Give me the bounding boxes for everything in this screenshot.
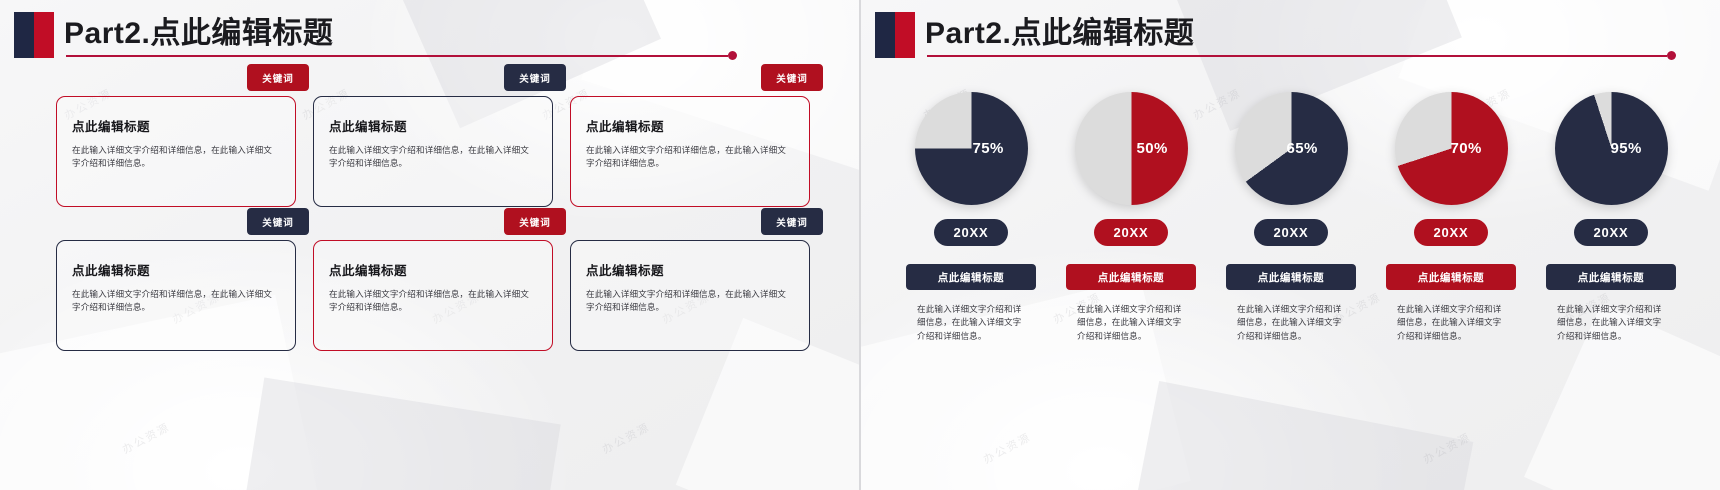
item-title-banner[interactable]: 点此编辑标题 [906,264,1036,290]
pie-chart[interactable]: 70% [1395,92,1508,205]
keyword-card[interactable]: 关键词 点此编辑标题 在此输入详细文字介绍和详细信息，在此输入详细文字介绍和详细… [56,96,296,207]
year-badge[interactable]: 20XX [1254,219,1328,246]
keyword-badge-label: 关键词 [776,71,808,85]
item-description: 在此输入详细文字介绍和详细信息，在此输入详细文字介绍和详细信息。 [917,303,1025,343]
pie-item: 70% 20XX 点此编辑标题 在此输入详细文字介绍和详细信息，在此输入详细文字… [1371,92,1531,343]
slide-pair: 办公资源 办公资源 办公资源 办公资源 办公资源 办公资源 办公资源 办公资源 … [0,0,1720,490]
pie-percent-label: 50% [1137,140,1168,157]
pie-percent-label: 75% [973,140,1004,157]
pie-slice [1075,92,1188,205]
item-description: 在此输入详细文字介绍和详细信息，在此输入详细文字介绍和详细信息。 [1557,303,1665,343]
keyword-card[interactable]: 关键词 点此编辑标题 在此输入详细文字介绍和详细信息，在此输入详细文字介绍和详细… [313,240,553,351]
year-label: 20XX [953,225,988,240]
watermark: 办公资源 [1420,429,1473,468]
header-accent-red [895,12,915,58]
year-badge[interactable]: 20XX [1414,219,1488,246]
pie-chart[interactable]: 65% [1235,92,1348,205]
year-label: 20XX [1593,225,1628,240]
pie-item: 50% 20XX 点此编辑标题 在此输入详细文字介绍和详细信息，在此输入详细文字… [1051,92,1211,343]
pie-slice [915,92,1028,205]
keyword-badge-label: 关键词 [519,71,551,85]
item-description: 在此输入详细文字介绍和详细信息，在此输入详细文字介绍和详细信息。 [1077,303,1185,343]
keyword-card[interactable]: 关键词 点此编辑标题 在此输入详细文字介绍和详细信息，在此输入详细文字介绍和详细… [56,240,296,351]
watermark: 办公资源 [599,419,652,458]
year-badge[interactable]: 20XX [934,219,1008,246]
page-title: Part2.点此编辑标题 [925,14,1194,54]
pie-chart[interactable]: 75% [915,92,1028,205]
keyword-badge[interactable]: 关键词 [504,208,566,235]
item-title-banner[interactable]: 点此编辑标题 [1386,264,1516,290]
year-badge[interactable]: 20XX [1094,219,1168,246]
keyword-badge-label: 关键词 [262,71,294,85]
pie-percent-label: 70% [1451,140,1482,157]
year-badge[interactable]: 20XX [1574,219,1648,246]
card-title: 点此编辑标题 [329,116,537,135]
keyword-badge[interactable]: 关键词 [761,208,823,235]
card-title: 点此编辑标题 [72,116,280,135]
pie-chart[interactable]: 50% [1075,92,1188,205]
item-title: 点此编辑标题 [1418,270,1485,285]
item-title-banner[interactable]: 点此编辑标题 [1066,264,1196,290]
item-title: 点此编辑标题 [1098,270,1165,285]
header-accent-navy [875,12,895,58]
item-description: 在此输入详细文字介绍和详细信息，在此输入详细文字介绍和详细信息。 [1237,303,1345,343]
item-title: 点此编辑标题 [938,270,1005,285]
header-rule [66,55,728,57]
header-rule-dot [728,51,737,60]
item-description: 在此输入详细文字介绍和详细信息，在此输入详细文字介绍和详细信息。 [1397,303,1505,343]
slide-header: Part2.点此编辑标题 [861,0,1720,70]
card-title: 点此编辑标题 [586,260,794,279]
keyword-badge[interactable]: 关键词 [761,64,823,91]
keyword-card[interactable]: 关键词 点此编辑标题 在此输入详细文字介绍和详细信息，在此输入详细文字介绍和详细… [570,96,810,207]
card-text: 在此输入详细文字介绍和详细信息，在此输入详细文字介绍和详细信息。 [329,144,537,170]
item-title-banner[interactable]: 点此编辑标题 [1546,264,1676,290]
pie-percent-label: 95% [1611,140,1642,157]
keyword-badge[interactable]: 关键词 [504,64,566,91]
card-text: 在此输入详细文字介绍和详细信息，在此输入详细文字介绍和详细信息。 [329,288,537,314]
watermark: 办公资源 [119,419,172,458]
slide-right: 办公资源 办公资源 办公资源 办公资源 办公资源 办公资源 办公资源 办公资源 … [859,0,1720,490]
card-title: 点此编辑标题 [329,260,537,279]
keyword-badge-label: 关键词 [776,215,808,229]
keyword-card[interactable]: 关键词 点此编辑标题 在此输入详细文字介绍和详细信息，在此输入详细文字介绍和详细… [570,240,810,351]
header-rule [927,55,1667,57]
card-text: 在此输入详细文字介绍和详细信息，在此输入详细文字介绍和详细信息。 [72,144,280,170]
header-accent-navy [14,12,34,58]
keyword-card[interactable]: 关键词 点此编辑标题 在此输入详细文字介绍和详细信息，在此输入详细文字介绍和详细… [313,96,553,207]
pie-chart-row: 75% 20XX 点此编辑标题 在此输入详细文字介绍和详细信息，在此输入详细文字… [891,92,1691,343]
year-label: 20XX [1273,225,1308,240]
card-row: 关键词 点此编辑标题 在此输入详细文字介绍和详细信息，在此输入详细文字介绍和详细… [56,96,812,207]
page-title: Part2.点此编辑标题 [64,14,333,54]
card-row: 关键词 点此编辑标题 在此输入详细文字介绍和详细信息，在此输入详细文字介绍和详细… [56,240,812,351]
pie-chart[interactable]: 95% [1555,92,1668,205]
keyword-card-grid: 关键词 点此编辑标题 在此输入详细文字介绍和详细信息，在此输入详细文字介绍和详细… [56,96,812,351]
slide-left: 办公资源 办公资源 办公资源 办公资源 办公资源 办公资源 办公资源 办公资源 … [0,0,859,490]
item-title-banner[interactable]: 点此编辑标题 [1226,264,1356,290]
pie-item: 75% 20XX 点此编辑标题 在此输入详细文字介绍和详细信息，在此输入详细文字… [891,92,1051,343]
card-text: 在此输入详细文字介绍和详细信息，在此输入详细文字介绍和详细信息。 [586,288,794,314]
keyword-badge-label: 关键词 [519,215,551,229]
keyword-badge[interactable]: 关键词 [247,64,309,91]
pie-percent-label: 65% [1287,140,1318,157]
card-text: 在此输入详细文字介绍和详细信息，在此输入详细文字介绍和详细信息。 [72,288,280,314]
watermark: 办公资源 [980,429,1033,468]
slide-header: Part2.点此编辑标题 [0,0,859,70]
pie-item: 95% 20XX 点此编辑标题 在此输入详细文字介绍和详细信息，在此输入详细文字… [1531,92,1691,343]
item-title: 点此编辑标题 [1258,270,1325,285]
card-text: 在此输入详细文字介绍和详细信息，在此输入详细文字介绍和详细信息。 [586,144,794,170]
year-label: 20XX [1433,225,1468,240]
header-rule-dot [1667,51,1676,60]
card-title: 点此编辑标题 [586,116,794,135]
header-accent-red [34,12,54,58]
card-title: 点此编辑标题 [72,260,280,279]
pie-item: 65% 20XX 点此编辑标题 在此输入详细文字介绍和详细信息，在此输入详细文字… [1211,92,1371,343]
keyword-badge-label: 关键词 [262,215,294,229]
item-title: 点此编辑标题 [1578,270,1645,285]
keyword-badge[interactable]: 关键词 [247,208,309,235]
year-label: 20XX [1113,225,1148,240]
